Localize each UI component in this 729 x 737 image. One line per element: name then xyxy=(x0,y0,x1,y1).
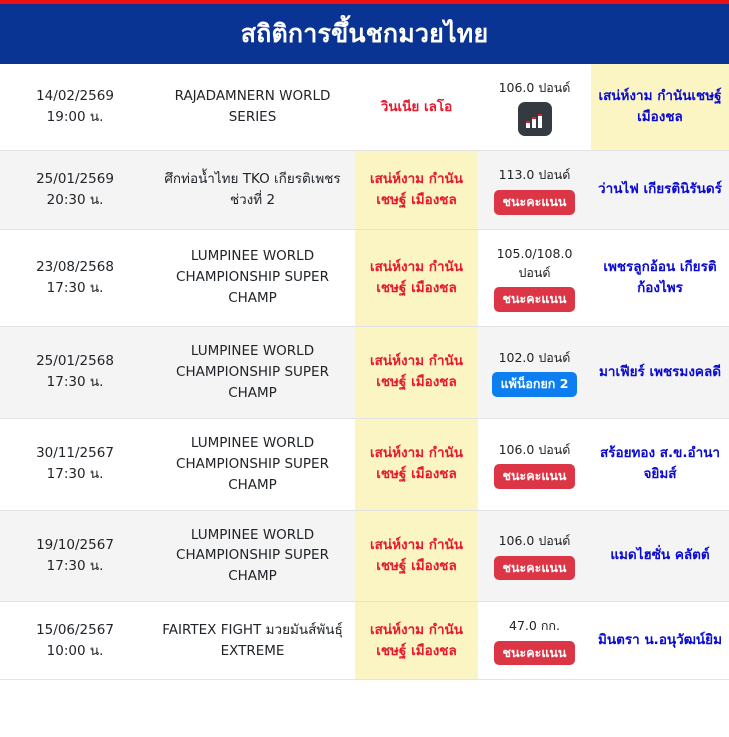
status-badge: ชนะคะแนน xyxy=(494,190,576,215)
cell-opponent-name[interactable]: มินตรา น.อนุวัฒน์ยิม xyxy=(591,602,729,680)
status-badge: แพ้น็อกยก 2 xyxy=(492,372,578,397)
cell-fighter-name[interactable]: เสน่ห์งาม กำนันเชษฐ์ เมืองชล xyxy=(355,229,478,327)
cell-event-name: RAJADAMNERN WORLD SERIES xyxy=(150,64,355,151)
cell-opponent-name[interactable]: เพชรลูกอ้อน เกียรติก้องไพร xyxy=(591,229,729,327)
fight-date: 25/01/2569 xyxy=(6,169,144,190)
cell-event-name: LUMPINEE WORLD CHAMPIONSHIP SUPER CHAMP xyxy=(150,229,355,327)
cell-fighter-name[interactable]: เสน่ห์งาม กำนันเชษฐ์ เมืองชล xyxy=(355,327,478,419)
fight-date: 19/10/2567 xyxy=(6,535,144,556)
fight-date: 14/02/2569 xyxy=(6,86,144,107)
cell-weight-result: 105.0/108.0 ปอนด์ชนะคะแนน xyxy=(478,229,591,327)
page-header: สถิติการขึ้นชกมวยไทย xyxy=(0,4,729,64)
cell-date: 19/10/256717:30 น. xyxy=(0,510,150,602)
table-row[interactable]: 25/01/256817:30 น.LUMPINEE WORLD CHAMPIO… xyxy=(0,327,729,419)
cell-event-name: LUMPINEE WORLD CHAMPIONSHIP SUPER CHAMP xyxy=(150,510,355,602)
weight-value: 102.0 ปอนด์ xyxy=(484,348,585,367)
table-row[interactable]: 30/11/256717:30 น.LUMPINEE WORLD CHAMPIO… xyxy=(0,418,729,510)
cell-opponent-name[interactable]: มาเฟียร์ เพชรมงคลดี xyxy=(591,327,729,419)
table-row[interactable]: 25/01/256920:30 น.ศึกท่อน้ำไทย TKO เกียร… xyxy=(0,151,729,229)
cell-date: 23/08/256817:30 น. xyxy=(0,229,150,327)
weight-value: 106.0 ปอนด์ xyxy=(484,78,585,97)
table-row[interactable]: 23/08/256817:30 น.LUMPINEE WORLD CHAMPIO… xyxy=(0,229,729,327)
cell-event-name: LUMPINEE WORLD CHAMPIONSHIP SUPER CHAMP xyxy=(150,418,355,510)
cell-event-name: ศึกท่อน้ำไทย TKO เกียรติเพชร ช่วงที่ 2 xyxy=(150,151,355,229)
weight-value: 106.0 ปอนด์ xyxy=(484,440,585,459)
cell-fighter-name[interactable]: เสน่ห์งาม กำนันเชษฐ์ เมืองชล xyxy=(355,418,478,510)
status-badge: ชนะคะแนน xyxy=(494,287,576,312)
cell-event-name: LUMPINEE WORLD CHAMPIONSHIP SUPER CHAMP xyxy=(150,327,355,419)
cell-opponent-name[interactable]: แมดไฮซั่น คลัตต์ xyxy=(591,510,729,602)
cell-weight-result: 102.0 ปอนด์แพ้น็อกยก 2 xyxy=(478,327,591,419)
cell-date: 25/01/256817:30 น. xyxy=(0,327,150,419)
cell-opponent-name[interactable]: ว่านไฟ เกียรตินิรันดร์ xyxy=(591,151,729,229)
cell-fighter-name[interactable]: เสน่ห์งาม กำนันเชษฐ์ เมืองชล xyxy=(355,602,478,680)
cell-date: 14/02/256919:00 น. xyxy=(0,64,150,151)
fight-date: 25/01/2568 xyxy=(6,351,144,372)
cell-weight-result: 113.0 ปอนด์ชนะคะแนน xyxy=(478,151,591,229)
fight-time: 17:30 น. xyxy=(6,372,144,393)
fight-date: 30/11/2567 xyxy=(6,443,144,464)
page-root: สถิติการขึ้นชกมวยไทย 14/02/256919:00 น.R… xyxy=(0,0,729,737)
cell-weight-result: 106.0 ปอนด์ xyxy=(478,64,591,151)
cell-opponent-name[interactable]: เสน่ห์งาม กำนันเชษฐ์เมืองชล xyxy=(591,64,729,151)
cell-opponent-name[interactable]: สร้อยทอง ส.ข.อำนาจยิมส์ xyxy=(591,418,729,510)
weight-value: 47.0 กก. xyxy=(484,616,585,635)
status-badge: ชนะคะแนน xyxy=(494,556,576,581)
status-badge: ชนะคะแนน xyxy=(494,641,576,666)
page-title: สถิติการขึ้นชกมวยไทย xyxy=(241,20,489,48)
cell-fighter-name[interactable]: เสน่ห์งาม กำนันเชษฐ์ เมืองชล xyxy=(355,510,478,602)
fight-time: 17:30 น. xyxy=(6,464,144,485)
cell-event-name: FAIRTEX FIGHT มวยมันส์พันธุ์ EXTREME xyxy=(150,602,355,680)
table-row[interactable]: 14/02/256919:00 น.RAJADAMNERN WORLD SERI… xyxy=(0,64,729,151)
table-row[interactable]: 19/10/256717:30 น.LUMPINEE WORLD CHAMPIO… xyxy=(0,510,729,602)
cell-date: 30/11/256717:30 น. xyxy=(0,418,150,510)
cell-weight-result: 106.0 ปอนด์ชนะคะแนน xyxy=(478,510,591,602)
cell-weight-result: 47.0 กก.ชนะคะแนน xyxy=(478,602,591,680)
weight-value: 105.0/108.0 ปอนด์ xyxy=(484,244,585,283)
fight-time: 10:00 น. xyxy=(6,641,144,662)
fight-date: 15/06/2567 xyxy=(6,620,144,641)
fight-history-body: 14/02/256919:00 น.RAJADAMNERN WORLD SERI… xyxy=(0,64,729,680)
cell-fighter-name[interactable]: เสน่ห์งาม กำนันเชษฐ์ เมืองชล xyxy=(355,151,478,229)
cell-date: 25/01/256920:30 น. xyxy=(0,151,150,229)
cell-fighter-name[interactable]: วินเนีย เลโอ xyxy=(355,64,478,151)
fight-time: 20:30 น. xyxy=(6,190,144,211)
fight-time: 19:00 น. xyxy=(6,107,144,128)
status-badge: ชนะคะแนน xyxy=(494,464,576,489)
fight-history-table: 14/02/256919:00 น.RAJADAMNERN WORLD SERI… xyxy=(0,64,729,680)
fight-time: 17:30 น. xyxy=(6,278,144,299)
cell-date: 15/06/256710:00 น. xyxy=(0,602,150,680)
table-row[interactable]: 15/06/256710:00 น.FAIRTEX FIGHT มวยมันส์… xyxy=(0,602,729,680)
weight-value: 113.0 ปอนด์ xyxy=(484,165,585,184)
weight-value: 106.0 ปอนด์ xyxy=(484,531,585,550)
fight-time: 17:30 น. xyxy=(6,556,144,577)
cell-weight-result: 106.0 ปอนด์ชนะคะแนน xyxy=(478,418,591,510)
bar-chart-icon[interactable] xyxy=(518,102,552,136)
fight-date: 23/08/2568 xyxy=(6,257,144,278)
